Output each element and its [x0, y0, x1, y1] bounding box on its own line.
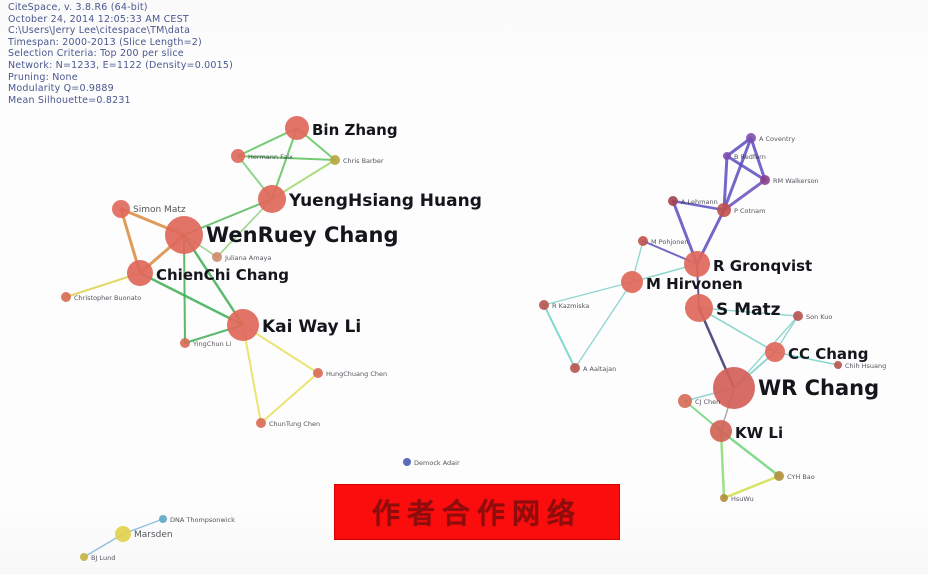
network-node-label: P Cotnam [734, 207, 765, 215]
network-node[interactable] [684, 251, 710, 277]
network-node-label: B Redfern [734, 153, 766, 161]
network-node-label: YingChun Li [192, 340, 231, 348]
network-node[interactable] [115, 526, 131, 542]
network-node[interactable] [258, 185, 286, 213]
network-node-label: HungChuang Chen [326, 370, 387, 378]
network-node-label: R Kazmiska [552, 302, 589, 310]
network-node-label: M Pohjonen [651, 238, 688, 246]
network-node-label: Christopher Buonato [74, 294, 141, 302]
network-node[interactable] [256, 418, 266, 428]
network-node[interactable] [61, 292, 71, 302]
network-node[interactable] [112, 200, 130, 218]
network-node[interactable] [403, 458, 411, 466]
network-node[interactable] [621, 271, 643, 293]
network-node[interactable] [793, 311, 803, 321]
network-node-label: BJ Lund [91, 554, 115, 562]
network-node-label: HsuWu [731, 495, 754, 503]
network-node[interactable] [180, 338, 190, 348]
network-node[interactable] [685, 294, 713, 322]
network-node-label: KW Li [735, 424, 783, 442]
network-node[interactable] [159, 515, 167, 523]
network-node[interactable] [720, 494, 728, 502]
network-node-label: Son Kuo [806, 313, 832, 321]
network-node[interactable] [539, 300, 549, 310]
network-node-label: Chris Barber [343, 157, 384, 165]
network-node[interactable] [231, 149, 245, 163]
caption-banner: 作者合作网络 [334, 484, 620, 540]
network-node-label: A Coventry [759, 135, 795, 143]
network-node-label: ChunTung Chen [269, 420, 320, 428]
network-node-label: CJ Chen [695, 398, 720, 406]
network-node[interactable] [127, 260, 153, 286]
network-node[interactable] [227, 309, 259, 341]
network-node[interactable] [165, 216, 203, 254]
network-node[interactable] [285, 116, 309, 140]
network-node[interactable] [774, 471, 784, 481]
network-node-label: Kai Way Li [262, 317, 361, 337]
network-node[interactable] [746, 133, 756, 143]
network-node[interactable] [638, 236, 648, 246]
network-node[interactable] [765, 342, 785, 362]
network-node[interactable] [80, 553, 88, 561]
network-node-label: Demock Adair [414, 459, 460, 467]
network-node[interactable] [570, 363, 580, 373]
network-node[interactable] [710, 420, 732, 442]
network-node-label: RM Walkerson [773, 177, 819, 185]
network-node[interactable] [668, 196, 678, 206]
network-node[interactable] [313, 368, 323, 378]
network-node-label: Simon Matz [133, 205, 186, 215]
network-node[interactable] [717, 203, 731, 217]
network-edge [261, 373, 318, 423]
network-node-label: Hermann Faix [248, 153, 293, 161]
network-node-label: A Lehmann [681, 198, 718, 206]
network-node-label: M Hirvonen [646, 275, 743, 293]
network-node-label: A Aaltajan [583, 365, 616, 373]
network-node-label: Bin Zhang [312, 121, 398, 139]
network-node-label: WenRuey Chang [206, 223, 399, 247]
network-node[interactable] [212, 252, 222, 262]
network-node[interactable] [330, 155, 340, 165]
network-node-label: ChienChi Chang [156, 266, 289, 284]
network-node-label: Juliana Amaya [224, 254, 271, 262]
network-node-label: S Matz [716, 300, 781, 320]
network-node-label: R Gronqvist [713, 257, 812, 275]
network-node-label: CC Chang [788, 345, 868, 363]
network-node-label: DNA Thompsonwick [170, 516, 235, 524]
network-node[interactable] [678, 394, 692, 408]
network-node-label: WR Chang [758, 376, 879, 400]
network-edge [544, 305, 575, 368]
caption-banner-label: 作者合作网络 [372, 492, 582, 532]
network-node-label: CYH Bao [787, 473, 815, 481]
network-node-label: Chih Hsuang [845, 362, 886, 370]
network-node[interactable] [723, 152, 731, 160]
network-node-label: Marsden [134, 530, 173, 540]
network-node-label: YuengHsiang Huang [288, 191, 482, 211]
network-node[interactable] [760, 175, 770, 185]
citespace-visualization-canvas: CiteSpace, v. 3.8.R6 (64-bit) October 24… [0, 0, 928, 574]
